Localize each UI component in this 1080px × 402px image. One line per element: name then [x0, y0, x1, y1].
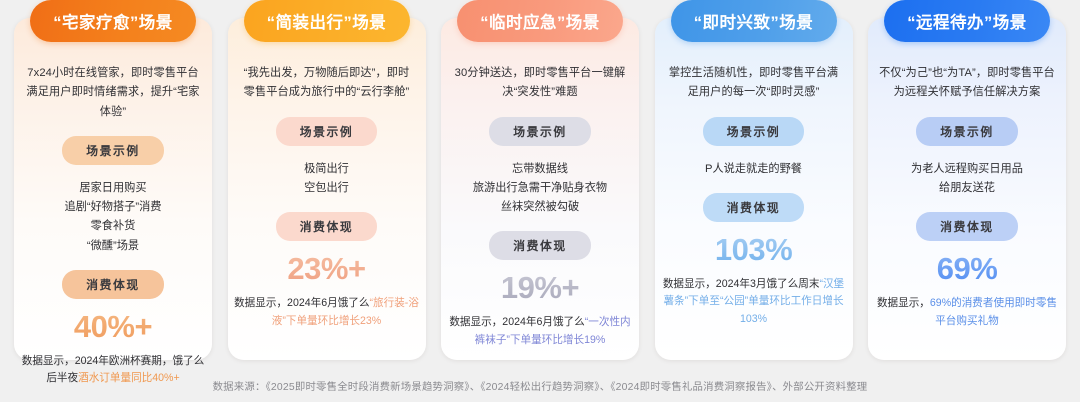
card-stat-value: 23%+ — [287, 251, 365, 287]
footer-source-text: 数据来源：《2025即时零售全时段消费新场景趋势洞察》、《2024轻松出行趋势洞… — [213, 378, 868, 393]
consumption-label-badge: 消费体现 — [276, 212, 378, 241]
card-note: 数据显示，2024年6月饿了么“旅行装-浴液”下单量环比增长23% — [234, 295, 420, 330]
note-prefix: 数据显示， — [877, 297, 930, 309]
card-examples: 极简出行空包出行 — [236, 160, 418, 199]
card-examples: 居家日用购买追剧“好物搭子”消费零食补货“微醺”场景 — [22, 179, 204, 256]
consumption-label-badge: 消费体现 — [703, 193, 805, 222]
card-stat-value: 69% — [937, 251, 998, 287]
card-title-pill: “简装出行”场景 — [244, 0, 410, 42]
card-examples: 忘带数据线旅游出行急需干净贴身衣物丝袜突然被勾破 — [449, 160, 631, 218]
footer-source: 数据来源：《2025即时零售全时段消费新场景趋势洞察》、《2024轻松出行趋势洞… — [0, 368, 1080, 402]
card-title-pill: “即时兴致”场景 — [671, 0, 837, 42]
example-label-badge: 场景示例 — [62, 136, 164, 165]
consumption-label-badge: 消费体现 — [62, 270, 164, 299]
scenario-card[interactable]: “即时兴致”场景 掌控生活随机性，即时零售平台满足用户的每一次“即时灵感” 场景… — [655, 18, 853, 360]
example-label-badge: 场景示例 — [916, 117, 1018, 146]
card-note: 数据显示，2024年6月饿了么“一次性内裤袜子”下单量环比增长19% — [447, 314, 633, 349]
card-description: “我先出发，万物随后即达”，即时零售平台成为旅行中的“云行李舱” — [239, 64, 415, 103]
card-note: 数据显示，2024年3月饿了么周末“汉堡薯条”下单至“公园”单量环比工作日增长1… — [661, 276, 847, 329]
note-prefix: 数据显示，2024年6月饿了么 — [234, 297, 369, 309]
infographic-root: “宅家疗愈”场景 7x24小时在线管家，即时零售平台满足用户即时情绪需求，提升“… — [0, 0, 1080, 402]
card-title-pill: “临时应急”场景 — [457, 0, 623, 42]
card-examples: P人说走就走的野餐 — [663, 160, 845, 179]
card-examples: 为老人远程购买日用品给朋友送花 — [876, 160, 1058, 199]
card-description: 7x24小时在线管家，即时零售平台满足用户即时情绪需求，提升“宅家体验” — [25, 64, 201, 122]
example-label-badge: 场景示例 — [489, 117, 591, 146]
consumption-label-badge: 消费体现 — [489, 231, 591, 260]
scenario-card[interactable]: “宅家疗愈”场景 7x24小时在线管家，即时零售平台满足用户即时情绪需求，提升“… — [14, 18, 212, 360]
scenario-card[interactable]: “临时应急”场景 30分钟送达，即时零售平台一键解决“突发性”难题 场景示例 忘… — [441, 18, 639, 360]
note-prefix: 数据显示，2024年3月饿了么周末 — [663, 278, 820, 290]
card-stat-value: 19%+ — [501, 270, 579, 306]
example-label-badge: 场景示例 — [703, 117, 805, 146]
scenario-card[interactable]: “简装出行”场景 “我先出发，万物随后即达”，即时零售平台成为旅行中的“云行李舱… — [228, 18, 426, 360]
scenario-card[interactable]: “远程待办”场景 不仅“为己”也“为TA”，即时零售平台为远程关怀赋予信任解决方… — [868, 18, 1066, 360]
consumption-label-badge: 消费体现 — [916, 212, 1018, 241]
card-title-pill: “远程待办”场景 — [884, 0, 1050, 42]
note-highlight: 69%的消费者使用即时零售平台购买礼物 — [930, 297, 1057, 327]
card-description: 30分钟送达，即时零售平台一键解决“突发性”难题 — [452, 64, 628, 103]
card-note: 数据显示，69%的消费者使用即时零售平台购买礼物 — [874, 295, 1060, 330]
card-stat-value: 103% — [715, 232, 792, 268]
card-description: 掌控生活随机性，即时零售平台满足用户的每一次“即时灵感” — [666, 64, 842, 103]
card-title-pill: “宅家疗愈”场景 — [30, 0, 196, 42]
example-label-badge: 场景示例 — [276, 117, 378, 146]
note-prefix: 数据显示，2024年6月饿了么 — [449, 316, 584, 328]
scenario-card-list: “宅家疗愈”场景 7x24小时在线管家，即时零售平台满足用户即时情绪需求，提升“… — [0, 0, 1080, 368]
card-stat-value: 40%+ — [74, 309, 152, 345]
card-description: 不仅“为己”也“为TA”，即时零售平台为远程关怀赋予信任解决方案 — [879, 64, 1055, 103]
